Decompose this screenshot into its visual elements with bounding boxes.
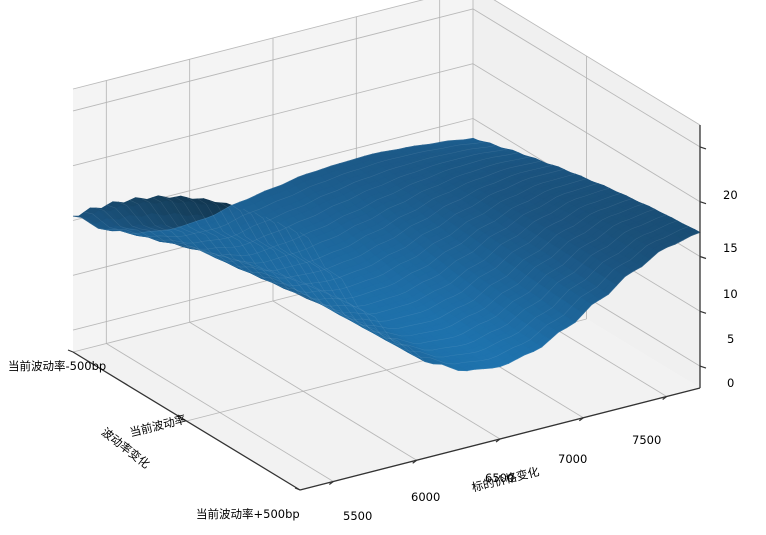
x-tick-label: 7000 [558, 452, 587, 466]
x-tick-label: 7500 [632, 433, 661, 447]
x-tick-label: 6000 [411, 490, 440, 504]
y-tick-label: 当前波动率-500bp [8, 358, 106, 374]
figure-canvas: 20 15 10 5 0 5500 6000 6500 7000 7500 当前… [0, 0, 766, 535]
z-tick-label: 5 [727, 332, 734, 346]
x-tick-label: 5500 [343, 509, 372, 523]
z-tick-label: 15 [723, 241, 738, 255]
y-tick-label: 当前波动率+500bp [196, 506, 300, 522]
z-tick-label: 20 [723, 188, 738, 202]
surface-plot-3d [0, 0, 766, 535]
z-tick-label: 10 [723, 287, 738, 301]
z-tick-label: 0 [727, 376, 734, 390]
